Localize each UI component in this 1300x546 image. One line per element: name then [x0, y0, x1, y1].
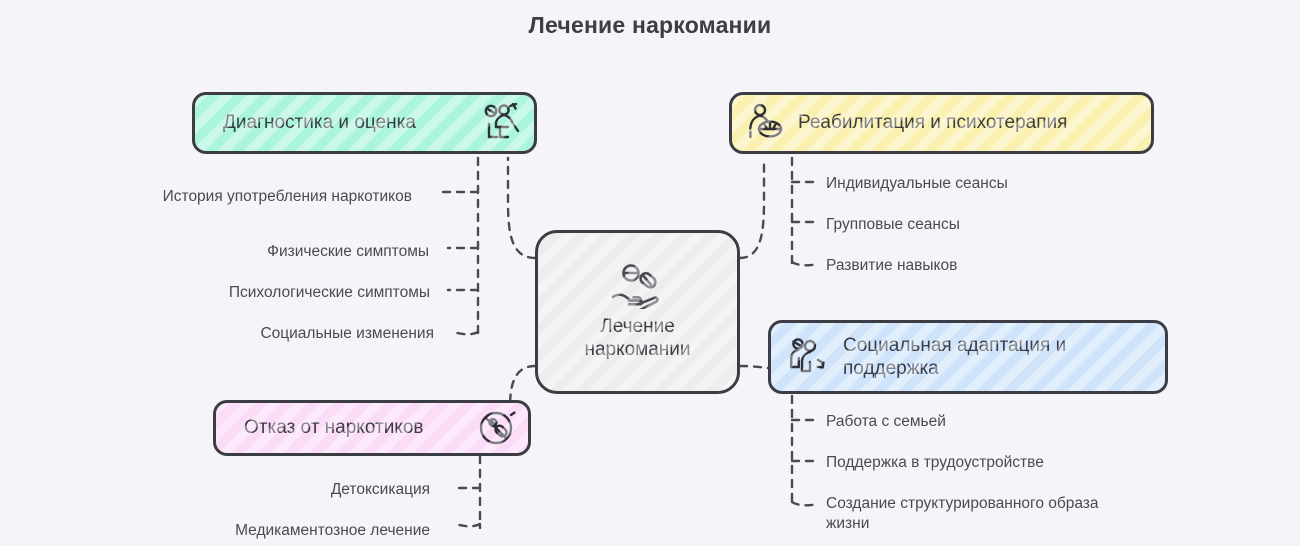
leaf-label: Социальные изменения	[260, 324, 434, 344]
therapy-support-icon	[746, 102, 788, 144]
leaf-label: Индивидуальные сеансы	[826, 174, 1008, 194]
leaf-label: Поддержка в трудоустройстве	[826, 453, 1044, 473]
people-support-icon	[789, 336, 833, 378]
leaf-label: Развитие навыков	[826, 256, 957, 276]
hand-holding-pills-icon	[607, 263, 669, 309]
connector-center-diagnostics	[508, 158, 535, 258]
central-node-label: Лечение наркомании	[584, 315, 690, 361]
central-node[interactable]: Лечение наркомании	[535, 230, 740, 394]
no-drugs-icon	[478, 409, 516, 447]
branch-node-refusal-label: Отказ от наркотиков	[244, 416, 424, 439]
connector-rehab-leaf-2	[792, 262, 818, 265]
leaf-label: Детоксикация	[331, 480, 430, 500]
branch-node-social[interactable]: Социальная адаптация и поддержка	[768, 320, 1168, 394]
page-title: Лечение наркомании	[0, 12, 1300, 39]
person-examination-icon	[480, 103, 522, 143]
branch-node-refusal[interactable]: Отказ от наркотиков	[213, 400, 531, 456]
branch-node-rehab-label: Реабилитация и психотерапия	[798, 111, 1067, 134]
branch-node-diagnostics-label: Диагностика и оценка	[223, 111, 416, 134]
leaf-label: Психологические симптомы	[229, 283, 430, 303]
branch-node-social-label: Социальная адаптация и поддержка	[843, 334, 1066, 380]
leaf-label: Физические симптомы	[267, 242, 429, 262]
leaf-label: Групповые сеансы	[826, 215, 960, 235]
leaf-label: Создание структурированного образа жизни	[826, 494, 1136, 534]
leaf-label: Медикаментозное лечение	[235, 521, 430, 541]
connector-refusal-leaf-1	[454, 524, 480, 526]
connector-diagnostics-leaf-3	[452, 332, 478, 334]
leaf-label: История употребления наркотиков	[163, 187, 412, 207]
leaf-label: Работа с семьей	[826, 412, 946, 432]
branch-node-diagnostics[interactable]: Диагностика и оценка	[192, 92, 537, 154]
branch-node-rehab[interactable]: Реабилитация и психотерапия	[729, 92, 1154, 154]
connector-social-leaf-2	[792, 502, 818, 505]
mindmap-canvas: Лечение наркомании	[0, 0, 1300, 546]
connector-center-rehab	[740, 158, 764, 258]
